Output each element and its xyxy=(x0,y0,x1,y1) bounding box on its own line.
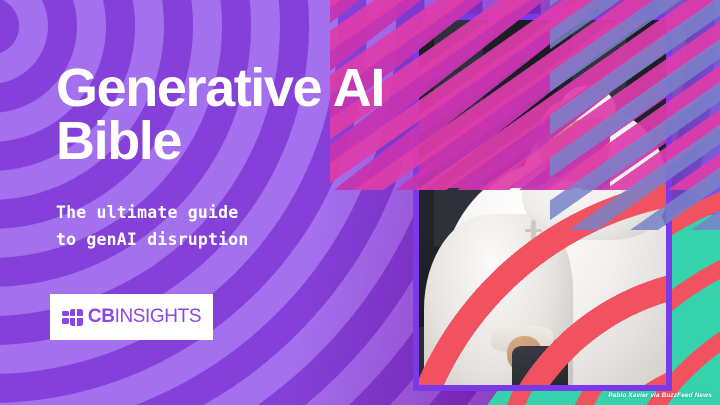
cb-insights-logo[interactable]: CBINSIGHTS xyxy=(50,294,213,340)
cb-insights-wordmark: CBINSIGHTS xyxy=(88,306,201,328)
page-subtitle: The ultimate guide to genAI disruption xyxy=(56,200,386,253)
subtitle-line-2: to genAI disruption xyxy=(56,227,386,254)
pope-photo xyxy=(419,20,666,385)
cb-insights-logo-mark-icon xyxy=(62,309,83,326)
title-line-2: Bible xyxy=(56,115,416,168)
photo-overlay-stripes xyxy=(419,20,666,188)
logo-word-light: INSIGHTS xyxy=(115,306,202,327)
photo-overlay-coral-arcs xyxy=(419,184,666,385)
slide-canvas: Generative AI Bible The ultimate guide t… xyxy=(0,0,720,405)
page-title: Generative AI Bible xyxy=(56,62,416,168)
subtitle-line-1: The ultimate guide xyxy=(56,200,386,227)
photo-credit: Pablo Xavier via BuzzFeed News xyxy=(608,392,712,399)
photo-frame xyxy=(413,14,672,391)
logo-word-bold: CB xyxy=(88,306,115,327)
title-line-1: Generative AI xyxy=(56,62,416,115)
